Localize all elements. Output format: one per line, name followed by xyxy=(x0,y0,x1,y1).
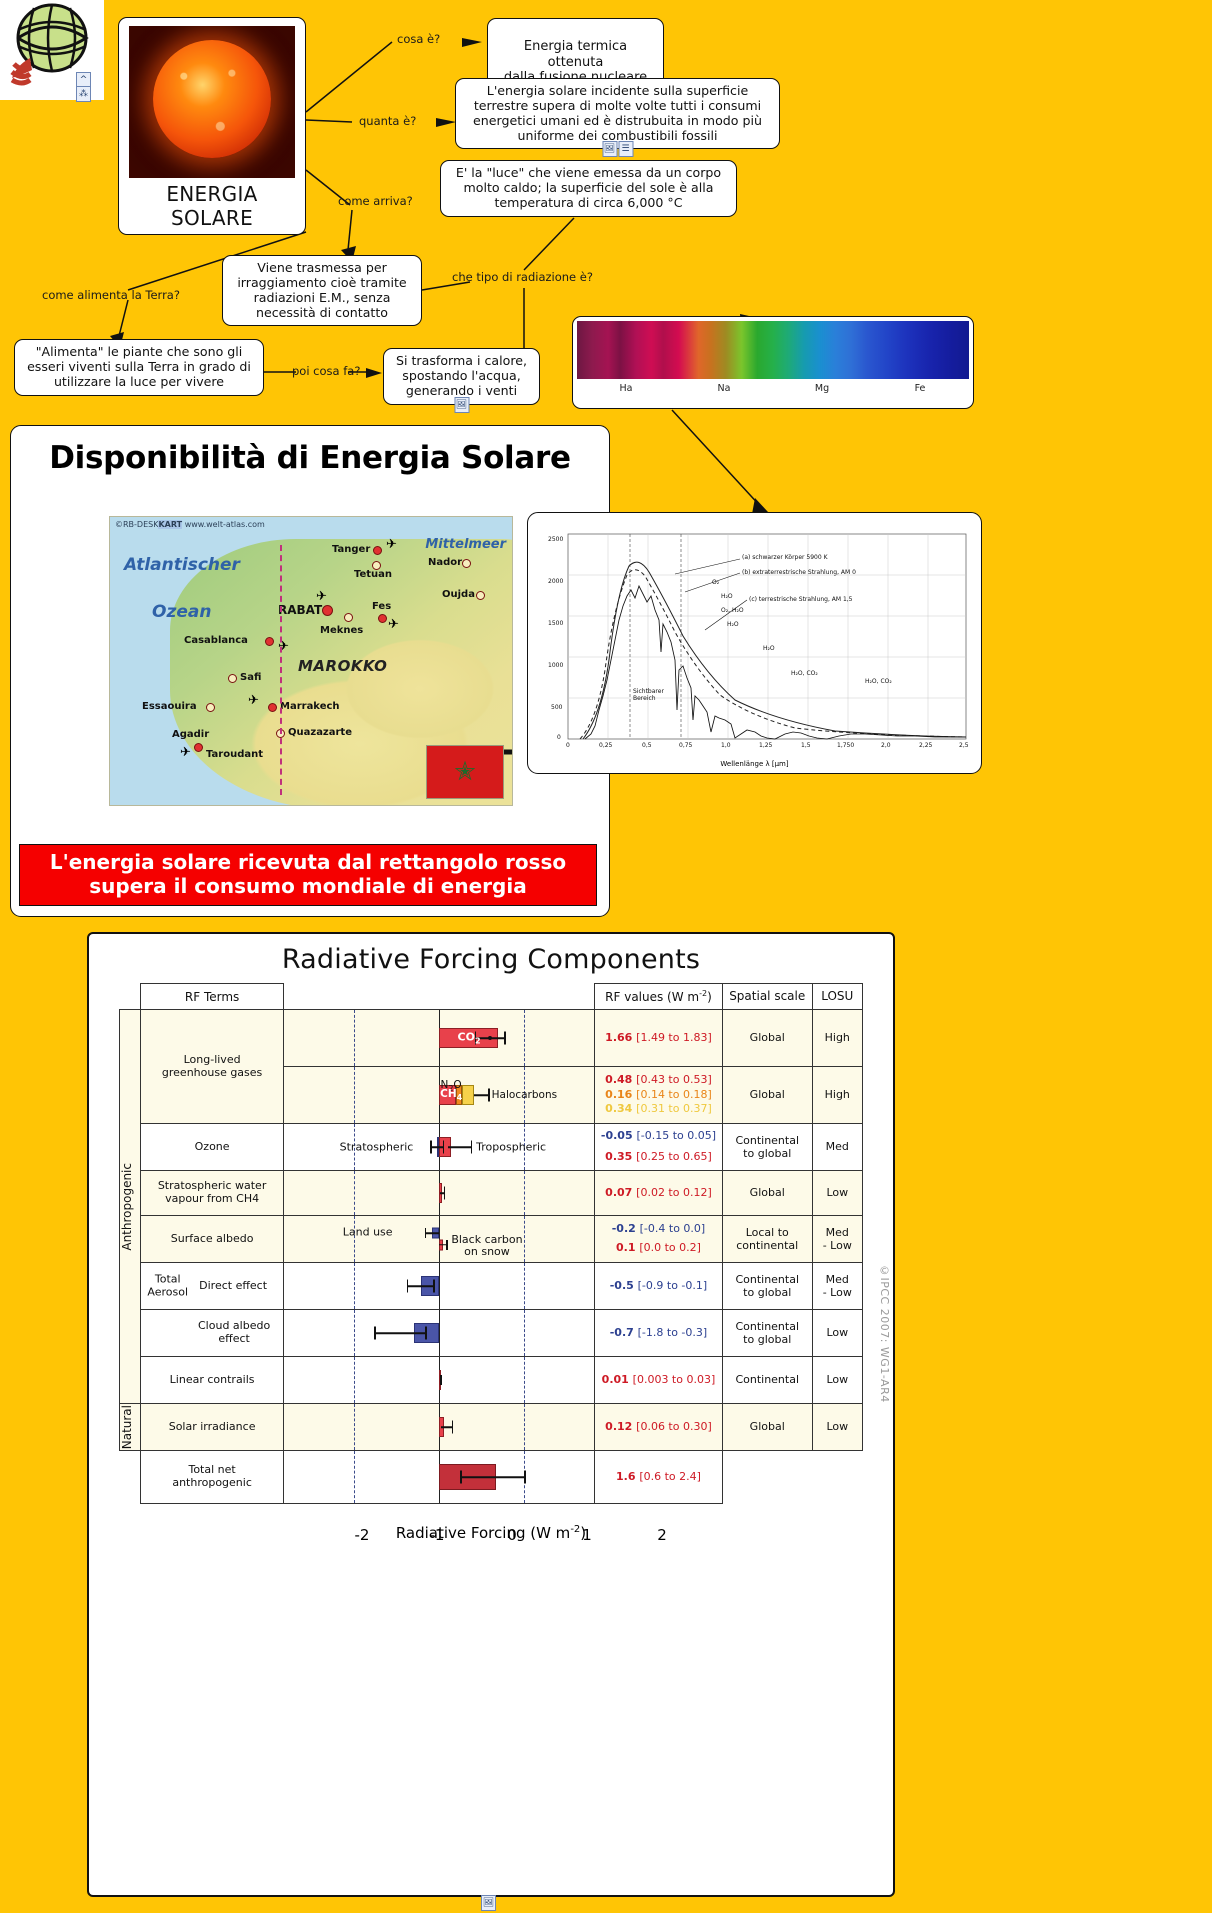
value-direct-effect: -0.5 [-0.9 to -0.1] xyxy=(595,1263,723,1310)
x-axis-tick: -2 xyxy=(355,1526,370,1544)
spatial-contrails: Continental xyxy=(722,1357,812,1404)
central-node-solar-energy[interactable]: ENERGIA SOLARE xyxy=(118,17,306,235)
x-axis-tick: -1 xyxy=(430,1526,445,1544)
row-label-albedo: Surface albedo xyxy=(141,1216,283,1263)
table-row: Anthropogenic Long-lived greenhouse gase… xyxy=(120,1010,863,1067)
row-label-direct-effect: Total Aerosol Direct effect xyxy=(141,1263,283,1310)
x-tick: 1,25 xyxy=(759,742,772,749)
row-label-total-aerosol: Total Aerosol xyxy=(147,1273,188,1298)
spatial-cloud-albedo: Continental to global xyxy=(722,1310,812,1357)
row-plot-strat-h2o xyxy=(283,1171,594,1216)
losu-albedo: Med - Low xyxy=(812,1216,862,1263)
edge-label-quanta-e: quanta è? xyxy=(359,114,416,128)
row-label-ozone: Ozone xyxy=(141,1124,283,1171)
spatial-albedo: Local to continental xyxy=(722,1216,812,1263)
inplot-label-tropospheric: Tropospheric xyxy=(476,1141,546,1154)
morocco-flag-red-rectangle: ✭ xyxy=(426,745,504,799)
node-becomes-heat[interactable]: Si trasforma i calore, spostando l'acqua… xyxy=(383,348,540,405)
row-label-contrails: Linear contrails xyxy=(141,1357,283,1404)
sun-image xyxy=(129,26,295,178)
ocean-label-line2: Ozean xyxy=(152,602,211,622)
value-solar-irradiance: 0.12 [0.06 to 0.30] xyxy=(595,1404,723,1451)
table-row: Total Aerosol Direct effect -0.5 [-0.9 t… xyxy=(120,1263,863,1310)
row-label-ghg: Long-lived greenhouse gases xyxy=(141,1010,283,1124)
losu-strat-h2o: Low xyxy=(812,1171,862,1216)
row-plot-cloud-albedo xyxy=(283,1310,594,1357)
status-banner: L'energia solare ricevuta dal rettangolo… xyxy=(19,844,597,906)
header-rf-values: RF values (W m-2) xyxy=(595,984,723,1010)
table-row: Cloud albedo effect -0.7 [-1.8 to -0.3] … xyxy=(120,1310,863,1357)
table-row: Ozone Stratospheric Tropospheric -0.05 [… xyxy=(120,1124,863,1171)
city-dot xyxy=(194,743,203,752)
node-how-much[interactable]: L'energia solare incidente sulla superfi… xyxy=(455,78,780,149)
value-cloud-albedo: -0.7 [-1.8 to -0.3] xyxy=(595,1310,723,1357)
solar-irradiance-plot-card[interactable]: Sonnenstrahlungsintensität [W/m² µm] 250… xyxy=(527,512,982,774)
row-label-strat-h2o: Stratospheric water vapour from CH4 xyxy=(141,1171,283,1216)
row-plot-total-net xyxy=(283,1451,594,1504)
city-dot xyxy=(268,703,277,712)
inplot-label-stratospheric: Stratospheric xyxy=(340,1141,414,1154)
spatial-strat-h2o: Global xyxy=(722,1171,812,1216)
city-casablanca: Casablanca xyxy=(184,635,248,646)
page-title: Disponibilità di Energia Solare xyxy=(11,426,609,476)
value-contrails: 0.01 [0.003 to 0.03] xyxy=(595,1357,723,1404)
spectrum-label-na: Na xyxy=(675,383,773,394)
losu-other-ghg: High xyxy=(812,1067,862,1124)
image-attachment-icon[interactable]: 🖼 xyxy=(454,397,469,413)
table-row: Natural Solar irradiance 0.12 [0.06 to 0… xyxy=(120,1404,863,1451)
inplot-label-land-use: Land use xyxy=(343,1225,393,1238)
airport-icon: ✈ xyxy=(248,693,259,708)
solar-spectrum-card[interactable]: Ha Na Mg Fe xyxy=(572,316,974,409)
header-rf-terms: RF Terms xyxy=(141,984,283,1010)
note-attachment-icon[interactable]: ☰ xyxy=(618,141,633,157)
plot-x-axis-label: Wellenlänge λ [µm] xyxy=(535,760,974,768)
copyright-notice: ©IPCC 2007: WG1-AR4 xyxy=(878,1264,891,1403)
solar-spectrum-strip xyxy=(577,321,969,379)
spatial-co2: Global xyxy=(722,1010,812,1067)
inplot-label-black-carbon: Black carbonon snow xyxy=(451,1234,522,1258)
annotation-h2o-2: H₂O xyxy=(727,621,739,628)
annotation-o2-h2o: O₂, H₂O xyxy=(721,607,744,614)
inplot-label-halocarbons: Halocarbons xyxy=(492,1089,557,1101)
row-plot-albedo: Land use Black carbonon snow xyxy=(283,1216,594,1263)
spectrum-label-mg: Mg xyxy=(773,383,871,394)
annotation-o2: O₂ xyxy=(712,579,719,586)
ocean-label-line1: Atlantischer xyxy=(124,555,240,575)
row-label-cloud-albedo: Cloud albedo effect xyxy=(141,1310,283,1357)
chart-x-axis: -2 -1 0 1 2 Radiative Forcing (W m-2) xyxy=(119,1524,863,1580)
row-plot-direct-effect xyxy=(283,1263,594,1310)
x-axis-tick: 0 xyxy=(507,1526,517,1544)
row-plot-contrails xyxy=(283,1357,594,1404)
spatial-other-ghg: Global xyxy=(722,1067,812,1124)
central-node-label: ENERGIA SOLARE xyxy=(127,178,297,230)
table-row: Stratospheric water vapour from CH4 0.07… xyxy=(120,1171,863,1216)
node-transmission[interactable]: Viene trasmessa per irraggiamento cioè t… xyxy=(222,255,422,326)
edge-label-come-alimenta: come alimenta la Terra? xyxy=(42,288,180,302)
city-taroudant: Taroudant xyxy=(206,749,263,760)
x-axis-caption: Radiative Forcing (W m-2) xyxy=(119,1524,863,1542)
city-dot xyxy=(206,703,215,712)
values-ozone: -0.05 [-0.15 to 0.05] 0.35 [0.25 to 0.65… xyxy=(595,1124,723,1171)
values-albedo: -0.2 [-0.4 to 0.0] 0.1 [0.0 to 0.2] xyxy=(595,1216,723,1263)
x-tick: 1,5 xyxy=(801,742,811,749)
spectrum-label-ha: Ha xyxy=(577,383,675,394)
city-dot xyxy=(265,637,274,646)
table-row: Surface albedo Land use Black carbonon s… xyxy=(120,1216,863,1263)
row-plot-co2: CO2 xyxy=(283,1010,594,1067)
node-light-emission[interactable]: E' la "luce" che viene emessa da un corp… xyxy=(440,160,737,217)
annotation-h2o: H₂O xyxy=(721,593,733,600)
spectrum-label-fe: Fe xyxy=(871,383,969,394)
x-tick: 1,750 xyxy=(837,742,854,749)
image-attachment-icon[interactable]: 🖼 xyxy=(481,1895,496,1911)
node-feeds-plants[interactable]: "Alimenta" le piante che sono gli esseri… xyxy=(14,339,264,396)
row-label-solar-irradiance: Solar irradiance xyxy=(141,1404,283,1451)
star-icon: ✭ xyxy=(454,757,476,787)
edge-label-poi-cosa-fa: poi cosa fa? xyxy=(292,364,360,378)
header-spatial-scale: Spatial scale xyxy=(722,984,812,1010)
group-anthropogenic: Anthropogenic xyxy=(120,1010,141,1404)
table-row: Total net anthropogenic 1.6 [0.6 to 2.4] xyxy=(120,1451,863,1504)
x-axis-tick: 1 xyxy=(582,1526,592,1544)
losu-cloud-albedo: Low xyxy=(812,1310,862,1357)
x-tick: 2,0 xyxy=(881,742,891,749)
losu-ozone: Med xyxy=(812,1124,862,1171)
row-label-total-net: Total net anthropogenic xyxy=(141,1451,283,1504)
city-agadir: Agadir xyxy=(172,729,209,740)
value-co2: 1.66 [1.49 to 1.83] xyxy=(595,1010,723,1067)
x-tick: 0,25 xyxy=(599,742,612,749)
x-tick: 2,5 xyxy=(959,742,969,749)
losu-solar-irradiance: Low xyxy=(812,1404,862,1451)
edge-label-cosa-e: cosa è? xyxy=(397,32,440,46)
visible-band-label: Sichtbarer Bereich xyxy=(633,688,664,702)
inplot-label-co2: CO2 xyxy=(458,1030,481,1045)
curve-legend-b: (b) extraterrestrische Strahlung, AM 0 xyxy=(742,569,856,576)
table-row: Linear contrails 0.01 [0.003 to 0.03] Co… xyxy=(120,1357,863,1404)
city-essaouira: Essaouira xyxy=(142,701,197,712)
edge-label-tipo-radiazione: che tipo di radiazione è? xyxy=(452,270,593,284)
x-tick: 0 xyxy=(566,742,570,749)
city-safi: Safi xyxy=(240,672,261,683)
city-dot xyxy=(228,674,237,683)
inplot-label-ch4: CH4 xyxy=(440,1088,462,1102)
losu-contrails: Low xyxy=(812,1357,862,1404)
row-plot-other-ghg: N2O CH4 Halocarbons xyxy=(283,1067,594,1124)
availability-panel: Disponibilità di Energia Solare ©RB-DESK… xyxy=(10,425,610,917)
morocco-map[interactable]: ©RB-DESKKART www.welt-atlas.com Atlantis… xyxy=(109,516,513,806)
x-axis-tick: 2 xyxy=(657,1526,667,1544)
value-strat-h2o: 0.07 [0.02 to 0.12] xyxy=(595,1171,723,1216)
annotation-h2o-3: H₂O xyxy=(763,645,775,652)
airport-icon: ✈ xyxy=(180,745,191,760)
table-header-row: RF Terms RF values (W m-2) Spatial scale… xyxy=(120,984,863,1010)
losu-co2: High xyxy=(812,1010,862,1067)
image-attachment-icon[interactable]: 🖼 xyxy=(602,141,617,157)
spectrum-element-labels: Ha Na Mg Fe xyxy=(577,379,969,394)
row-plot-ozone: Stratospheric Tropospheric xyxy=(283,1124,594,1171)
header-losu: LOSU xyxy=(812,984,862,1010)
annotation-h2o-co2: H₂O, CO₂ xyxy=(791,670,818,677)
chart-title: Radiative Forcing Components xyxy=(89,934,893,983)
x-tick: 0,5 xyxy=(642,742,652,749)
x-tick: 1,0 xyxy=(721,742,731,749)
x-tick: 0,75 xyxy=(679,742,692,749)
value-total-net: 1.6 [0.6 to 2.4] xyxy=(595,1451,723,1504)
spatial-solar-irradiance: Global xyxy=(722,1404,812,1451)
group-natural: Natural xyxy=(120,1404,141,1451)
edge-label-come-arriva: come arriva? xyxy=(338,194,413,208)
tree-icon[interactable]: ⁂ xyxy=(76,86,91,102)
map-credit: ©RB-DESKKART www.welt-atlas.com xyxy=(115,520,265,529)
values-other-ghg: 0.48 [0.43 to 0.53] 0.16 [0.14 to 0.18] … xyxy=(595,1067,723,1124)
annotation-h2o-co2-2: H₂O, CO₂ xyxy=(865,678,892,685)
row-plot-solar-irradiance xyxy=(283,1404,594,1451)
spatial-ozone: Continental to global xyxy=(722,1124,812,1171)
x-tick: 2,25 xyxy=(919,742,932,749)
spatial-direct-effect: Continental to global xyxy=(722,1263,812,1310)
losu-direct-effect: Med - Low xyxy=(812,1263,862,1310)
radiative-forcing-table: RF Terms RF values (W m-2) Spatial scale… xyxy=(119,983,863,1504)
curve-legend-c: (c) terrestrische Strahlung, AM 1,5 xyxy=(749,596,853,603)
ipcc-radiative-forcing-panel: Radiative Forcing Components ©IPCC 2007:… xyxy=(87,932,895,1897)
curve-legend-a: (a) schwarzer Körper 5900 K xyxy=(742,554,828,561)
